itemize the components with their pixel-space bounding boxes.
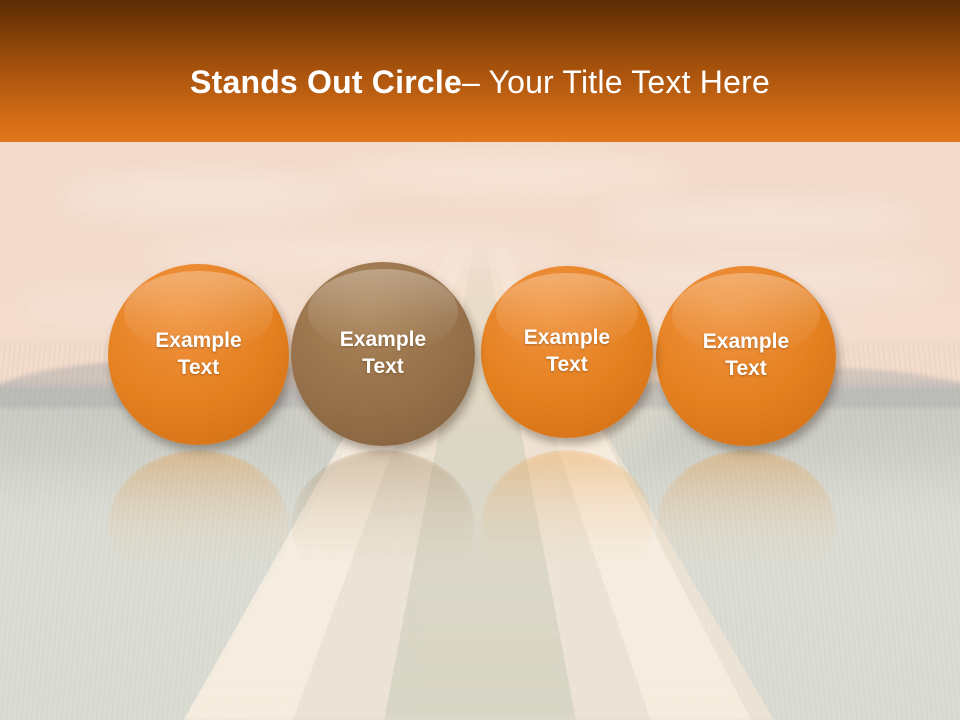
circle-item-1[interactable]: ExampleText	[108, 264, 289, 445]
slide-canvas: Stands Out Circle – Your Title Text Here	[0, 0, 960, 720]
circle-reflection-4	[656, 450, 836, 600]
circle-item-3[interactable]: ExampleText	[481, 266, 653, 438]
circle-group: ExampleText ExampleText ExampleText Exam…	[0, 0, 960, 720]
circle-item-4[interactable]: ExampleText	[656, 266, 836, 446]
circle-label-2: ExampleText	[340, 327, 426, 381]
circle-label-1: ExampleText	[155, 328, 241, 382]
circle-reflection-2	[291, 450, 475, 600]
circle-reflection-3	[481, 450, 653, 600]
circle-label-4: ExampleText	[703, 329, 789, 383]
circle-label-3: ExampleText	[524, 325, 610, 379]
circle-item-2-highlighted[interactable]: ExampleText	[291, 262, 475, 446]
circle-reflection-1	[108, 450, 289, 600]
